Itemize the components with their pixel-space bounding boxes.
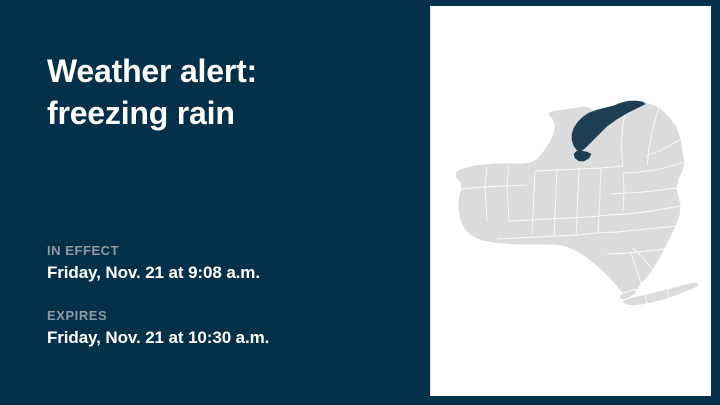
state-counties-base <box>455 101 685 296</box>
expires-block: EXPIRES Friday, Nov. 21 at 10:30 a.m. <box>47 308 417 349</box>
in-effect-value: Friday, Nov. 21 at 9:08 a.m. <box>47 262 417 284</box>
alert-title: Weather alert: freezing rain <box>47 50 407 134</box>
map-panel <box>430 6 711 396</box>
alert-title-line-2: freezing rain <box>47 92 407 134</box>
alert-text-column: Weather alert: freezing rain IN EFFECT F… <box>0 0 430 405</box>
expires-value: Friday, Nov. 21 at 10:30 a.m. <box>47 327 417 349</box>
in-effect-block: IN EFFECT Friday, Nov. 21 at 9:08 a.m. <box>47 243 417 284</box>
new-york-state-map <box>431 6 711 396</box>
expires-label: EXPIRES <box>47 308 417 324</box>
weather-alert-card: Weather alert: freezing rain IN EFFECT F… <box>0 0 720 405</box>
in-effect-label: IN EFFECT <box>47 243 417 259</box>
alert-title-line-1: Weather alert: <box>47 50 407 92</box>
